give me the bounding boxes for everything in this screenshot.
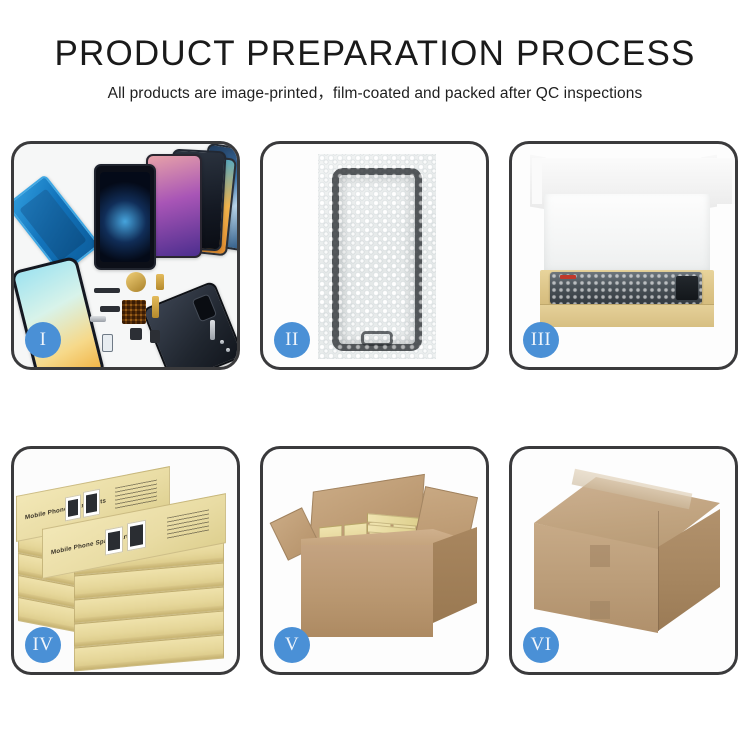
process-step-panel-4: Mobile Phone Spare Parts Mobile Phone Sp… — [11, 446, 240, 675]
page-subtitle: All products are image-printed，film-coat… — [0, 81, 750, 103]
carton-seam-upper — [590, 545, 610, 567]
camera-module-icon — [192, 293, 218, 322]
part-screw-2 — [226, 348, 230, 352]
process-step-panel-3: III — [509, 141, 738, 370]
step-badge-4: IV — [25, 627, 61, 663]
part-flex-connector — [156, 274, 164, 290]
header: PRODUCT PREPARATION PROCESS All products… — [0, 34, 750, 103]
part-battery — [102, 334, 113, 352]
process-step-panel-6: VI — [509, 446, 738, 675]
step-badge-1: I — [25, 322, 61, 358]
packed-screen — [550, 272, 702, 304]
part-screw — [220, 340, 224, 344]
part-flex-cable — [152, 296, 159, 318]
process-step-panel-2: II — [260, 141, 489, 370]
part-vibrator — [130, 328, 142, 340]
carton-corner-crease — [658, 511, 659, 631]
screen-frame-outline — [332, 168, 422, 351]
carton-front-panel — [301, 545, 433, 637]
bubble-wrap-sheet — [318, 154, 436, 359]
kraft-box-front-wall — [540, 304, 714, 327]
box-phone-image-1 — [65, 494, 81, 521]
product-preparation-infographic: PRODUCT PREPARATION PROCESS All products… — [0, 0, 750, 750]
step-badge-5: V — [274, 627, 310, 663]
step-badge-3: III — [523, 322, 559, 358]
part-button-module — [150, 330, 160, 343]
box-spec-lines-back — [115, 480, 157, 510]
box-phone-image-2 — [83, 489, 100, 518]
process-step-panel-1: I — [11, 141, 240, 370]
phone-screen-black — [94, 164, 156, 270]
box-phone-image-3 — [105, 526, 123, 555]
carton-side-panel — [433, 527, 477, 623]
part-speaker-coil — [126, 272, 146, 292]
part-metal-shield — [90, 316, 106, 322]
quality-label — [560, 275, 576, 279]
part-bracket — [100, 306, 120, 312]
screen-bottom-edge — [676, 276, 698, 300]
part-earpiece-mesh — [94, 288, 120, 293]
page-title: PRODUCT PREPARATION PROCESS — [0, 34, 750, 74]
part-logic-chip — [122, 300, 146, 324]
box-phone-image-4 — [127, 520, 146, 552]
process-step-panel-5: V — [260, 446, 489, 675]
carton-seam-lower — [590, 601, 610, 619]
process-step-grid: I II — [11, 141, 739, 679]
box-spec-lines-front — [167, 509, 209, 539]
step-badge-2: II — [274, 322, 310, 358]
phone-back-housing — [141, 280, 237, 367]
step-badge-6: VI — [523, 627, 559, 663]
foam-padding — [544, 194, 710, 276]
part-screwdriver — [210, 320, 215, 340]
